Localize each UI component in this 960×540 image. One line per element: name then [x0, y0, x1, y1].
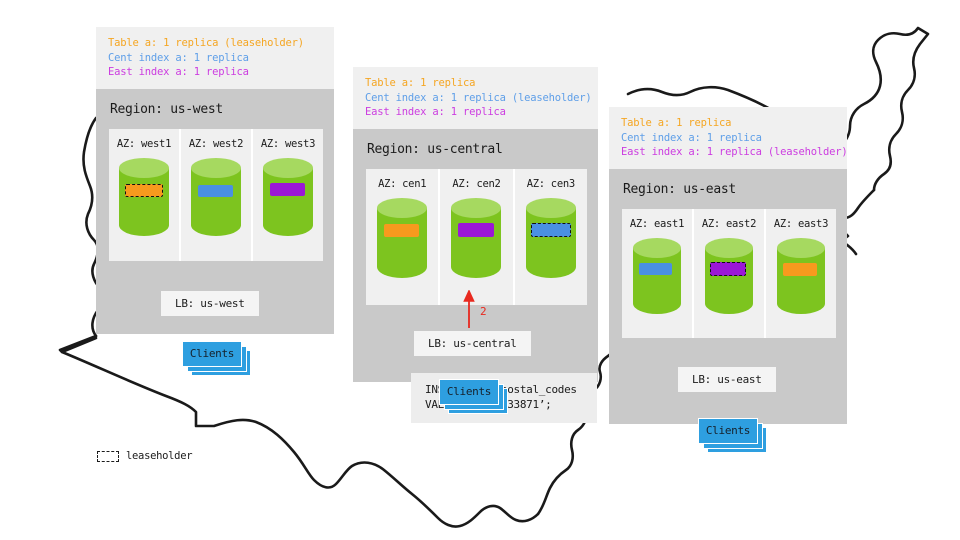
cylinder-top-icon — [777, 238, 825, 258]
replica-band-east-index-a-leaseholder — [710, 262, 746, 276]
az-cell-cen2[interactable]: AZ: cen2 — [440, 169, 514, 305]
cylinder-body-icon — [451, 208, 501, 278]
az-cell-cen3[interactable]: AZ: cen3 — [515, 169, 587, 305]
az-strip-us-east: AZ: east1 AZ: east2 AZ — [622, 209, 836, 338]
replica-band-east-index-a — [270, 183, 305, 196]
cylinder-body-icon — [119, 168, 169, 236]
az-strip-us-west: AZ: west1 AZ: west2 AZ — [109, 129, 323, 261]
region-title-us-central: Region: us-central — [353, 129, 598, 169]
region-body-us-west: Region: us-west AZ: west1 AZ: west2 — [96, 89, 334, 334]
load-balancer-us-east[interactable]: LB: us-east — [678, 367, 776, 392]
node-cylinder-cen3[interactable] — [526, 198, 576, 286]
load-balancer-us-west[interactable]: LB: us-west — [161, 291, 259, 316]
legend-line-cent-index-a: Cent index a: 1 replica — [108, 51, 324, 66]
arrow-step-number: 2 — [480, 305, 486, 318]
leaseholder-legend-key: leaseholder — [97, 450, 192, 462]
node-cylinder-cen2[interactable] — [451, 198, 501, 286]
cylinder-top-icon — [526, 198, 576, 218]
legend-line-table-a: Table a: 1 replica — [621, 116, 837, 131]
load-balancer-us-central[interactable]: LB: us-central — [414, 331, 531, 356]
replica-band-table-a — [783, 263, 817, 276]
legend-line-cent-index-a: Cent index a: 1 replica — [621, 131, 837, 146]
az-label-west2: AZ: west2 — [181, 138, 251, 150]
cylinder-top-icon — [705, 238, 753, 258]
region-panel-us-east: Table a: 1 replica Cent index a: 1 repli… — [609, 107, 847, 424]
dashed-rect-icon — [97, 451, 119, 462]
legend-line-east-index-a: East index a: 1 replica (leaseholder) — [621, 145, 837, 160]
node-cylinder-east1[interactable] — [633, 238, 681, 322]
clients-stack-us-west[interactable]: Clients — [182, 341, 242, 367]
legend-line-table-a: Table a: 1 replica (leaseholder) — [108, 36, 324, 51]
cylinder-top-icon — [451, 198, 501, 218]
cylinder-top-icon — [119, 158, 169, 178]
replica-band-east-index-a — [458, 223, 494, 237]
replica-band-table-a-leaseholder — [125, 184, 163, 197]
az-cell-east1[interactable]: AZ: east1 — [622, 209, 694, 338]
clients-button-us-east[interactable]: Clients — [698, 418, 758, 444]
cylinder-top-icon — [191, 158, 241, 178]
clients-button-us-central[interactable]: Clients — [439, 379, 499, 405]
node-cylinder-east3[interactable] — [777, 238, 825, 322]
replica-band-cent-index-a-leaseholder — [531, 223, 571, 237]
node-cylinder-west3[interactable] — [263, 158, 313, 244]
cylinder-body-icon — [377, 208, 427, 278]
az-cell-west1[interactable]: AZ: west1 — [109, 129, 181, 261]
legend-line-cent-index-a: Cent index a: 1 replica (leaseholder) — [365, 91, 588, 106]
az-cell-east3[interactable]: AZ: east3 — [766, 209, 836, 338]
region-body-us-east: Region: us-east AZ: east1 AZ: east2 — [609, 169, 847, 424]
cylinder-top-icon — [377, 198, 427, 218]
cylinder-body-icon — [191, 168, 241, 236]
legend-line-table-a: Table a: 1 replica — [365, 76, 588, 91]
node-cylinder-west2[interactable] — [191, 158, 241, 244]
replica-legend-us-west: Table a: 1 replica (leaseholder) Cent in… — [96, 27, 334, 89]
az-strip-us-central: AZ: cen1 AZ: cen2 AZ: — [366, 169, 587, 305]
legend-line-east-index-a: East index a: 1 replica — [108, 65, 324, 80]
az-label-cen3: AZ: cen3 — [515, 178, 587, 190]
replica-band-cent-index-a — [198, 185, 233, 197]
node-cylinder-west1[interactable] — [119, 158, 169, 244]
az-cell-west2[interactable]: AZ: west2 — [181, 129, 253, 261]
az-cell-west3[interactable]: AZ: west3 — [253, 129, 323, 261]
az-label-west1: AZ: west1 — [109, 138, 179, 150]
node-cylinder-cen1[interactable] — [377, 198, 427, 286]
clients-stack-us-central[interactable]: Clients — [439, 379, 499, 405]
az-cell-east2[interactable]: AZ: east2 — [694, 209, 766, 338]
query-routing-arrow: 2 — [461, 290, 497, 330]
region-title-us-east: Region: us-east — [609, 169, 847, 209]
region-body-us-central: Region: us-central AZ: cen1 AZ: cen2 — [353, 129, 598, 382]
replica-legend-us-central: Table a: 1 replica Cent index a: 1 repli… — [353, 67, 598, 129]
clients-button-us-west[interactable]: Clients — [182, 341, 242, 367]
replica-legend-us-east: Table a: 1 replica Cent index a: 1 repli… — [609, 107, 847, 169]
cylinder-body-icon — [526, 208, 576, 278]
az-label-east1: AZ: east1 — [622, 218, 692, 230]
region-panel-us-west: Table a: 1 replica (leaseholder) Cent in… — [96, 27, 334, 334]
cylinder-top-icon — [263, 158, 313, 178]
az-label-cen1: AZ: cen1 — [366, 178, 438, 190]
replica-band-cent-index-a — [639, 263, 672, 275]
az-label-west3: AZ: west3 — [253, 138, 323, 150]
replica-band-table-a — [384, 224, 419, 237]
region-title-us-west: Region: us-west — [96, 89, 334, 129]
az-label-east2: AZ: east2 — [694, 218, 764, 230]
az-cell-cen1[interactable]: AZ: cen1 — [366, 169, 440, 305]
cylinder-top-icon — [633, 238, 681, 258]
clients-stack-us-east[interactable]: Clients — [698, 418, 758, 444]
node-cylinder-east2[interactable] — [705, 238, 753, 322]
az-label-east3: AZ: east3 — [766, 218, 836, 230]
leaseholder-legend-label: leaseholder — [126, 450, 192, 462]
legend-line-east-index-a: East index a: 1 replica — [365, 105, 588, 120]
region-panel-us-central: Table a: 1 replica Cent index a: 1 repli… — [353, 67, 598, 382]
az-label-cen2: AZ: cen2 — [440, 178, 512, 190]
diagram-canvas: Table a: 1 replica (leaseholder) Cent in… — [0, 0, 960, 540]
cylinder-body-icon — [263, 168, 313, 236]
